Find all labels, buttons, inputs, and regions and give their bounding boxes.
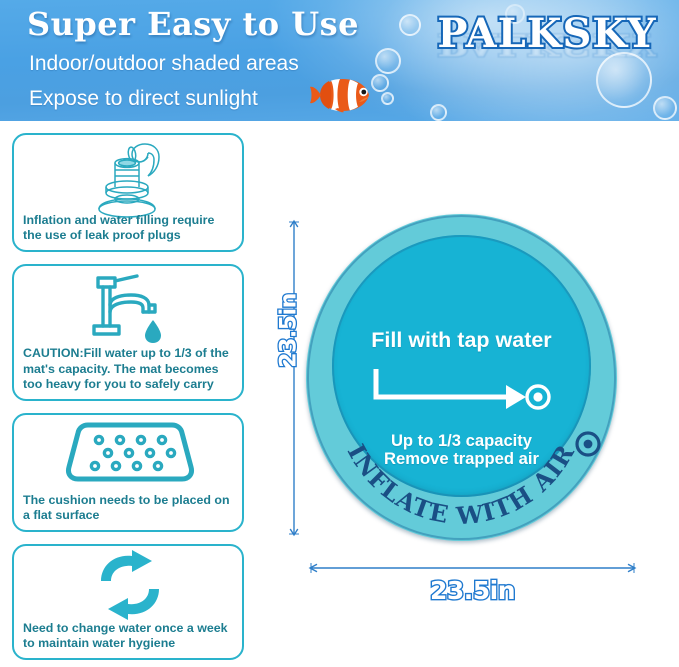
bubble-icon bbox=[399, 14, 421, 36]
header-subtitle-1: Indoor/outdoor shaded areas bbox=[29, 52, 299, 76]
bubble-icon bbox=[375, 48, 401, 74]
height-dimension-label: 23.5in bbox=[277, 293, 302, 367]
card-text: Need to change water once a week to main… bbox=[23, 621, 234, 652]
card-icon-container bbox=[14, 419, 246, 483]
inflate-with-air-curved-label: INFLATE WITH AIR bbox=[306, 214, 617, 541]
bubble-icon bbox=[381, 92, 394, 105]
width-dimension-line bbox=[307, 562, 638, 574]
faucet-water-drop-icon bbox=[87, 270, 173, 344]
dotted-cushion-icon bbox=[63, 419, 197, 483]
clownfish-icon bbox=[309, 76, 371, 114]
header-banner: Super Easy to Use Indoor/outdoor shaded … bbox=[0, 0, 679, 121]
height-dimension-line bbox=[288, 218, 300, 538]
info-card-fill-caution: CAUTION:Fill water up to 1/3 of the mat'… bbox=[12, 264, 244, 401]
product-illustration: Fill with tap water Up to 1/3 capacity R… bbox=[306, 214, 617, 541]
inflate-with-air-text: INFLATE WITH AIR bbox=[342, 439, 581, 531]
card-text: Inflation and water filling require the … bbox=[23, 213, 234, 244]
info-card-flat-surface: The cushion needs to be placed on a flat… bbox=[12, 413, 244, 532]
recycle-arrows-icon bbox=[92, 550, 168, 620]
info-card-leak-proof-plugs: Inflation and water filling require the … bbox=[12, 133, 244, 252]
info-card-change-water: Need to change water once a week to main… bbox=[12, 544, 244, 660]
page-title: Super Easy to Use bbox=[27, 5, 359, 43]
card-icon-container bbox=[14, 270, 246, 344]
bubble-icon bbox=[371, 74, 389, 92]
air-valve-plug-icon bbox=[82, 139, 178, 221]
brand-logo-text: PALKSKY bbox=[422, 10, 672, 57]
card-icon-container bbox=[14, 550, 246, 620]
width-dimension-label: 23.5in bbox=[307, 576, 638, 605]
header-subtitle-2: Expose to direct sunlight bbox=[29, 87, 258, 111]
card-icon-container bbox=[14, 139, 246, 221]
card-text: The cushion needs to be placed on a flat… bbox=[23, 493, 234, 524]
valve-target-icon bbox=[577, 433, 599, 455]
card-text: CAUTION:Fill water up to 1/3 of the mat'… bbox=[23, 346, 234, 392]
brand-logo: PALKSKY PALKSKY bbox=[422, 10, 672, 115]
